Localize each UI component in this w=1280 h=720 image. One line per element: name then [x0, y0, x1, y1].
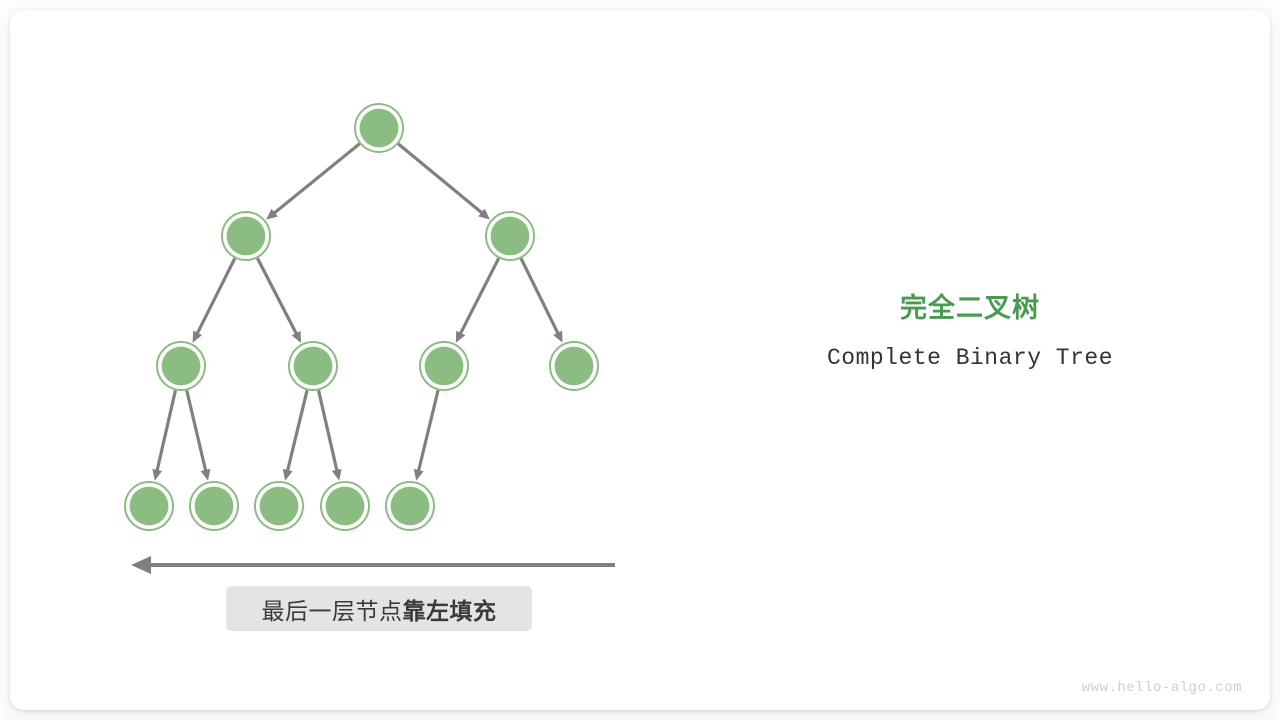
tree-node-circle	[130, 487, 169, 526]
caption-badge: 最后一层节点靠左填充	[226, 586, 532, 631]
tree-node-circle	[326, 487, 365, 526]
caption-normal-part: 最后一层节点	[262, 598, 403, 624]
tree-edge-layer	[152, 144, 562, 481]
tree-node-circle	[555, 347, 594, 386]
tree-node	[420, 342, 468, 390]
tree-edge	[266, 144, 359, 220]
watermark-text: www.hello-algo.com	[1082, 680, 1242, 696]
tree-edge-line	[257, 258, 297, 335]
tree-node-circle	[294, 347, 333, 386]
tree-edge	[319, 390, 342, 480]
tree-node-circle	[360, 109, 399, 148]
tree-node-circle	[425, 347, 464, 386]
tree-edge-line	[197, 258, 235, 334]
tree-edge	[456, 258, 499, 343]
tree-node	[321, 482, 369, 530]
tree-edge-arrowhead	[332, 469, 342, 481]
tree-edge-arrowhead	[201, 469, 211, 481]
figure-canvas: 最后一层节点靠左填充 完全二叉树 Complete Binary Tree ww…	[0, 0, 1280, 720]
tree-edge	[257, 258, 301, 343]
legend-subtitle: Complete Binary Tree	[760, 345, 1180, 371]
tree-node	[222, 212, 270, 260]
tree-edge-line	[521, 258, 558, 334]
tree-edge	[398, 144, 490, 220]
tree-edge	[152, 390, 175, 480]
tree-node-circle	[491, 217, 530, 256]
tree-edge-line	[319, 390, 338, 472]
tree-node	[255, 482, 303, 530]
direction-arrow	[131, 556, 615, 574]
tree-edge-arrowhead	[414, 469, 424, 481]
tree-node	[355, 104, 403, 152]
tree-edge	[283, 390, 307, 480]
legend-title: 完全二叉树	[760, 292, 1180, 324]
tree-edge	[187, 390, 211, 480]
tree-edge	[193, 258, 235, 342]
tree-edge-line	[273, 144, 359, 214]
tree-edge-line	[287, 390, 307, 472]
caption-bold-part: 靠左填充	[403, 598, 497, 624]
tree-node-circle	[260, 487, 299, 526]
tree-node	[550, 342, 598, 390]
direction-arrow-head	[131, 556, 151, 574]
fill-direction-arrow	[131, 556, 615, 574]
legend-block: 完全二叉树 Complete Binary Tree	[760, 292, 1180, 371]
tree-node-layer	[125, 104, 598, 530]
tree-edge-arrowhead	[283, 469, 293, 481]
tree-node	[486, 212, 534, 260]
tree-node-circle	[391, 487, 430, 526]
tree-edge-line	[187, 390, 206, 472]
caption-label: 最后一层节点靠左填充	[262, 592, 497, 626]
tree-edge-line	[460, 258, 499, 335]
tree-edge-line	[418, 390, 438, 472]
tree-node-circle	[162, 347, 201, 386]
tree-node	[190, 482, 238, 530]
tree-edge	[414, 390, 438, 480]
tree-edge	[521, 258, 562, 342]
tree-node	[289, 342, 337, 390]
tree-edge-line	[157, 390, 176, 472]
tree-node-circle	[195, 487, 234, 526]
tree-node	[125, 482, 173, 530]
tree-edge-arrowhead	[152, 469, 162, 481]
tree-node-circle	[227, 217, 266, 256]
tree-edge-line	[398, 144, 483, 214]
tree-node	[386, 482, 434, 530]
tree-node	[157, 342, 205, 390]
